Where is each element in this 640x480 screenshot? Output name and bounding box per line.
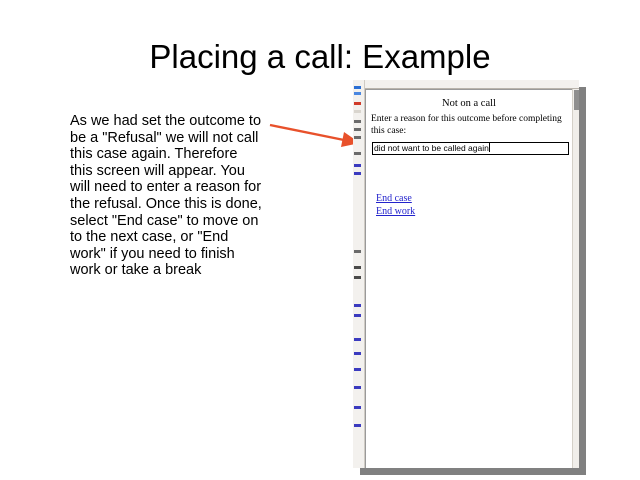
chrome-fragment (354, 92, 361, 95)
embedded-screenshot: Not on a call Enter a reason for this ou… (353, 80, 579, 468)
slide-body-text: As we had set the outcome to be a "Refus… (70, 113, 262, 279)
browser-toolbar-strip (365, 80, 579, 89)
chrome-fragment (354, 386, 361, 389)
vertical-scrollbar[interactable] (572, 89, 579, 468)
chrome-fragment (354, 86, 361, 89)
chrome-fragment (354, 352, 361, 355)
chrome-fragment (354, 424, 361, 427)
captured-page-content: Not on a call Enter a reason for this ou… (365, 89, 572, 468)
end-work-link[interactable]: End work (376, 205, 415, 218)
chrome-fragment (354, 120, 361, 123)
chrome-fragment (354, 102, 361, 105)
text-cursor (489, 143, 490, 152)
chrome-fragment (354, 110, 361, 113)
chrome-fragment (354, 368, 361, 371)
chrome-fragment (354, 172, 361, 175)
call-status-heading: Not on a call (366, 98, 572, 109)
chrome-fragment (354, 152, 361, 155)
chrome-fragment (354, 314, 361, 317)
chrome-fragment (354, 338, 361, 341)
page-title: Placing a call: Example (0, 38, 640, 76)
chrome-fragment (354, 406, 361, 409)
pointer-arrow-icon (268, 118, 364, 154)
reason-input[interactable]: did not want to be called again (372, 142, 569, 155)
chrome-fragment (354, 304, 361, 307)
arrow-shaft (270, 125, 344, 140)
end-case-link[interactable]: End case (376, 192, 415, 205)
chrome-fragment (354, 164, 361, 167)
action-links: End case End work (376, 192, 415, 218)
chrome-fragment (354, 136, 361, 139)
reason-instruction-label: Enter a reason for this outcome before c… (371, 113, 567, 137)
reason-input-value: did not want to be called again (374, 143, 489, 153)
scrollbar-thumb[interactable] (574, 90, 579, 110)
chrome-fragment (354, 128, 361, 131)
chrome-fragment (354, 276, 361, 279)
chrome-fragment (354, 266, 361, 269)
chrome-fragment (354, 250, 361, 253)
browser-chrome-strip (353, 80, 365, 468)
